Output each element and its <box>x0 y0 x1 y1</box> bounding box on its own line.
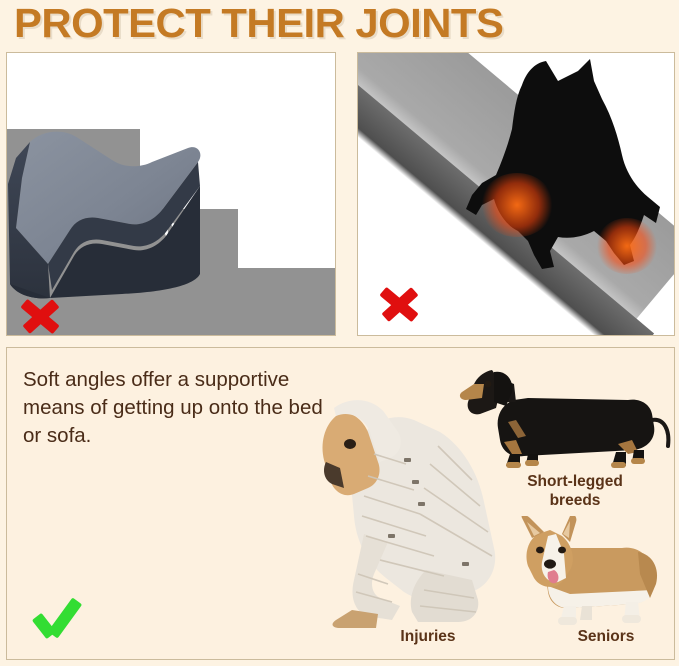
caption-injuries: Injuries <box>368 627 488 646</box>
right-angle-arc-icon <box>209 186 259 236</box>
corgi-photo <box>508 516 668 628</box>
red-x-icon <box>376 281 422 325</box>
foam-pet-stairs-product <box>2 124 204 302</box>
page-title: PROTECT THEIR JOINTS <box>14 1 626 45</box>
dachshund-photo <box>458 362 673 472</box>
solution-body-text: Soft angles offer a supportive means of … <box>23 366 323 450</box>
caption-seniors: Seniors <box>551 627 661 646</box>
caption-line-2: breeds <box>550 492 601 509</box>
green-check-icon <box>30 600 82 648</box>
steep-ramp-panel <box>357 52 675 336</box>
caption-short-legged-breeds: Short-legged breeds <box>505 472 645 510</box>
dog-silhouette-icon <box>454 55 664 285</box>
poster-root: PROTECT THEIR JOINTS 90° Soft angles off… <box>0 0 679 666</box>
caption-line-1: Short-legged <box>527 473 623 490</box>
